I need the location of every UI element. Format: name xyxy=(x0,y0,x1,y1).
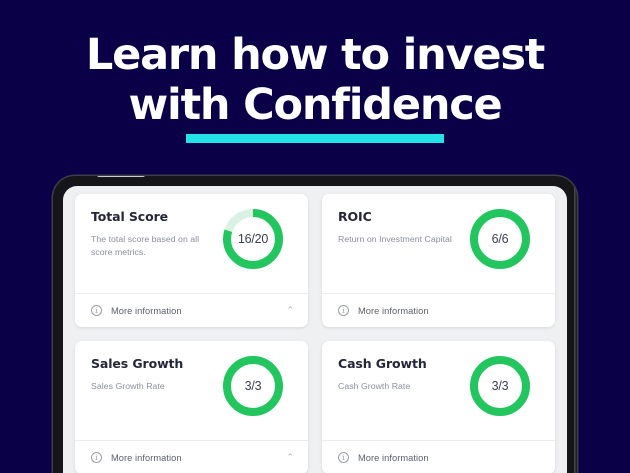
score-card-body: Sales GrowthSales Growth Rate3/3 xyxy=(91,355,292,437)
score-value-label: 6/6 xyxy=(467,206,533,272)
info-circle-icon: i xyxy=(338,452,349,463)
more-information-label: More information xyxy=(111,306,182,316)
more-information-label: More information xyxy=(111,453,182,463)
score-card-title: Cash Growth xyxy=(338,356,427,371)
score-card-footer[interactable]: iMore information⌃ xyxy=(75,440,308,473)
score-value-label: 16/20 xyxy=(220,206,286,272)
score-card[interactable]: Cash GrowthCash Growth Rate3/3iMore info… xyxy=(322,341,555,473)
score-card-description: Return on Investment Capital xyxy=(338,233,452,246)
score-card-footer[interactable]: iMore information⌃ xyxy=(75,293,308,327)
score-card-text: Cash GrowthCash Growth Rate xyxy=(338,355,427,393)
tablet-screen: Total ScoreThe total score based on all … xyxy=(63,186,567,473)
tablet-power-button xyxy=(97,176,145,177)
info-circle-icon: i xyxy=(91,305,102,316)
score-card-description: Sales Growth Rate xyxy=(91,380,183,393)
score-card-text: ROICReturn on Investment Capital xyxy=(338,208,452,246)
score-card-title: ROIC xyxy=(338,209,452,224)
score-card[interactable]: Sales GrowthSales Growth Rate3/3iMore in… xyxy=(75,341,308,473)
score-card-body: Cash GrowthCash Growth Rate3/3 xyxy=(338,355,539,437)
score-donut-chart: 6/6 xyxy=(467,206,533,272)
score-card-grid: Total ScoreThe total score based on all … xyxy=(63,194,567,473)
score-card-footer[interactable]: iMore information⌃ xyxy=(322,440,555,473)
headline-line-2: with Confidence xyxy=(0,80,630,130)
score-card-text: Total ScoreThe total score based on all … xyxy=(91,208,220,259)
headline-line-1: Learn how to invest xyxy=(0,30,630,80)
promo-banner: Learn how to invest with Confidence Tota… xyxy=(0,0,630,473)
score-card-description: The total score based on all score metri… xyxy=(91,233,220,259)
score-donut-chart: 3/3 xyxy=(220,353,286,419)
score-value-label: 3/3 xyxy=(220,353,286,419)
headline-underline xyxy=(186,134,444,143)
score-card-title: Total Score xyxy=(91,209,220,224)
score-donut-chart: 16/20 xyxy=(220,206,286,272)
score-card-footer[interactable]: iMore information⌃ xyxy=(322,293,555,327)
score-card-text: Sales GrowthSales Growth Rate xyxy=(91,355,183,393)
more-information-label: More information xyxy=(358,453,429,463)
score-card[interactable]: ROICReturn on Investment Capital6/6iMore… xyxy=(322,194,555,327)
score-donut-chart: 3/3 xyxy=(467,353,533,419)
score-value-label: 3/3 xyxy=(467,353,533,419)
info-circle-icon: i xyxy=(91,452,102,463)
score-card-description: Cash Growth Rate xyxy=(338,380,427,393)
score-card-body: Total ScoreThe total score based on all … xyxy=(91,208,292,290)
page-title: Learn how to invest with Confidence xyxy=(0,30,630,130)
info-circle-icon: i xyxy=(338,305,349,316)
tablet-device: Total ScoreThe total score based on all … xyxy=(53,176,577,473)
score-card-title: Sales Growth xyxy=(91,356,183,371)
chevron-up-icon[interactable]: ⌃ xyxy=(286,306,294,315)
more-information-label: More information xyxy=(358,306,429,316)
chevron-up-icon[interactable]: ⌃ xyxy=(286,453,294,462)
score-card-body: ROICReturn on Investment Capital6/6 xyxy=(338,208,539,290)
score-card[interactable]: Total ScoreThe total score based on all … xyxy=(75,194,308,327)
